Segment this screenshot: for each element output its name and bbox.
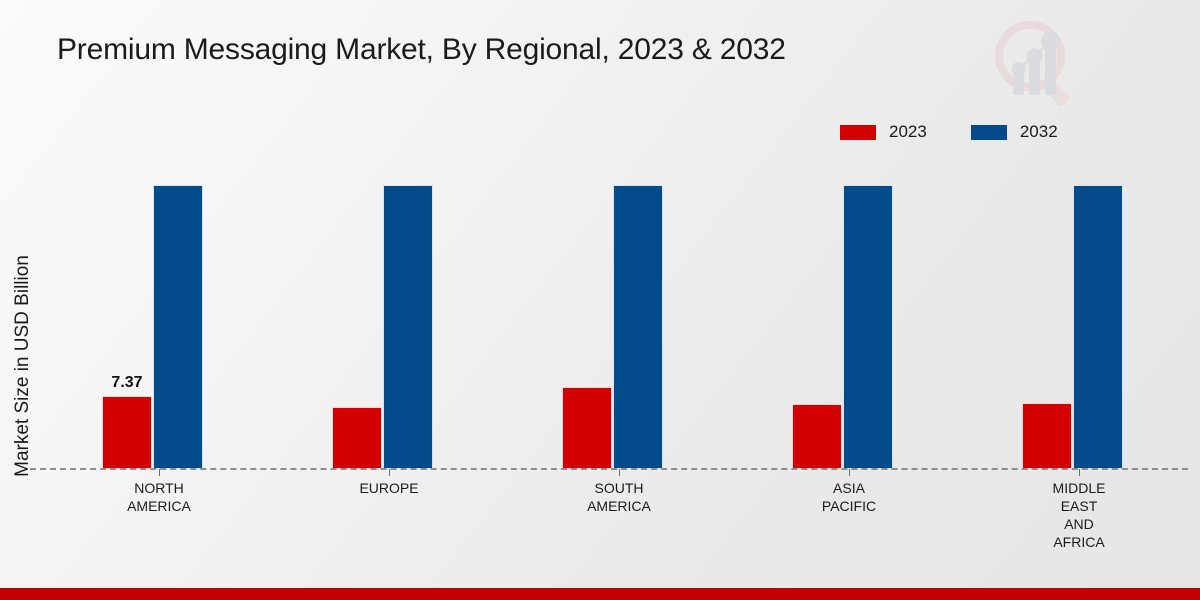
x-axis-baseline: [30, 468, 1188, 470]
bar-group: [964, 170, 1194, 469]
category-label-line: AFRICA: [964, 533, 1194, 551]
legend-swatch-2023: [840, 125, 876, 140]
legend-label-2023: 2023: [889, 122, 927, 142]
legend-item-2032[interactable]: 2032: [971, 122, 1058, 142]
footer-accent-bar: [0, 588, 1200, 600]
x-axis-category-label: EUROPE: [274, 479, 504, 497]
category-label-line: AMERICA: [44, 497, 274, 515]
category-label-line: PACIFIC: [734, 497, 964, 515]
chart-legend: 2023 2032: [840, 122, 1058, 142]
legend-item-2023[interactable]: 2023: [840, 122, 927, 142]
y-axis-title: Market Size in USD Billion: [12, 201, 34, 531]
legend-swatch-2032: [971, 125, 1007, 140]
category-label-line: SOUTH: [504, 479, 734, 497]
x-axis-category-label: SOUTHAMERICA: [504, 479, 734, 515]
bar-group: 7.37: [44, 170, 274, 469]
x-axis-category-label: ASIAPACIFIC: [734, 479, 964, 515]
bar-2032[interactable]: [613, 185, 663, 469]
category-label-line: ASIA: [734, 479, 964, 497]
bar-2032[interactable]: [843, 185, 893, 469]
bar-group: [504, 170, 734, 469]
category-label-line: EUROPE: [274, 479, 504, 497]
bar-2023[interactable]: [102, 396, 152, 469]
category-label-line: NORTH: [44, 479, 274, 497]
bar-group: [734, 170, 964, 469]
category-label-line: AMERICA: [504, 497, 734, 515]
chart-container: Premium Messaging Market, By Regional, 2…: [0, 0, 1200, 600]
x-axis-tick: [1079, 469, 1080, 476]
bar-group: [274, 170, 504, 469]
market-research-magnifier-logo-icon: [985, 14, 1085, 110]
x-axis-tick: [619, 469, 620, 476]
bar-2032[interactable]: [1073, 185, 1123, 469]
x-axis-tick: [849, 469, 850, 476]
x-axis-category-label: MIDDLEEASTANDAFRICA: [964, 479, 1194, 551]
bar-2032[interactable]: [153, 185, 203, 469]
bar-2023[interactable]: [562, 387, 612, 469]
x-axis-tick: [389, 469, 390, 476]
legend-label-2032: 2032: [1020, 122, 1058, 142]
category-label-line: AND: [964, 515, 1194, 533]
x-axis-tick: [159, 469, 160, 476]
bar-2023[interactable]: [792, 404, 842, 469]
x-axis-category-label: NORTHAMERICA: [44, 479, 274, 515]
bar-2023[interactable]: [332, 407, 382, 469]
bar-2023[interactable]: [1022, 403, 1072, 469]
bar-2032[interactable]: [383, 185, 433, 469]
chart-title: Premium Messaging Market, By Regional, 2…: [57, 33, 786, 67]
category-label-line: MIDDLE: [964, 479, 1194, 497]
plot-area: 7.37: [44, 170, 1194, 469]
category-label-line: EAST: [964, 497, 1194, 515]
